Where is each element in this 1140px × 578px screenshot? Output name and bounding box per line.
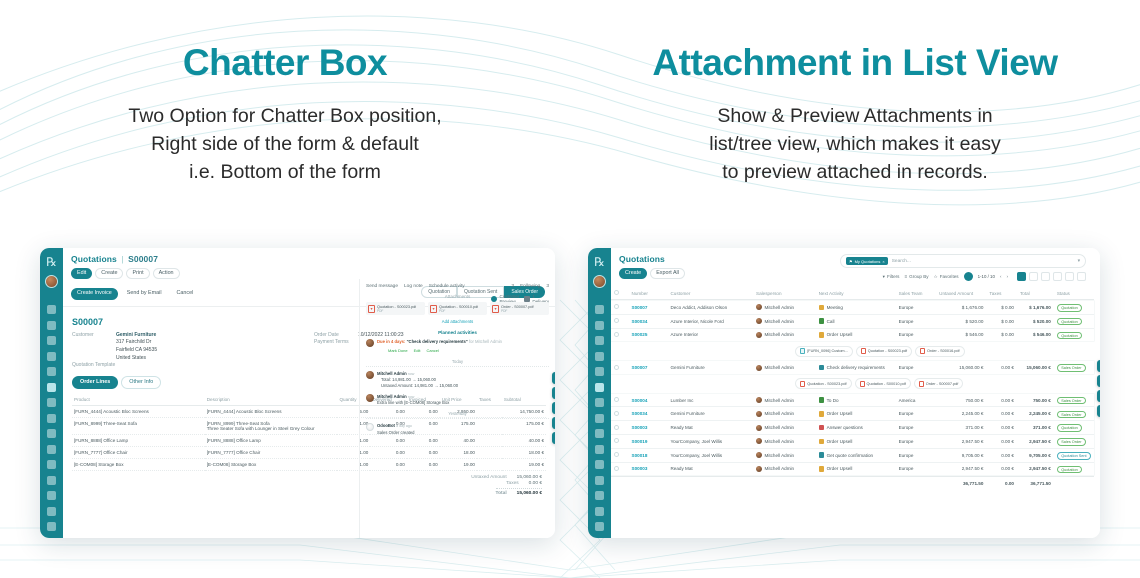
- sidebar-item-invoicing[interactable]: [47, 460, 56, 469]
- status-badge: Quotation: [1057, 424, 1082, 432]
- avatar: [756, 365, 762, 371]
- cell-select[interactable]: [611, 329, 629, 342]
- subtitle-line: Show & Preview Attachments in: [570, 102, 1140, 130]
- upsell-icon: [819, 411, 825, 417]
- edit-activity-button[interactable]: Edit: [414, 348, 421, 354]
- field-value: Fairfield CA 94535: [116, 347, 157, 353]
- cell-sales-team: Europe: [896, 463, 937, 476]
- subtitle-line: Right side of the form & default: [0, 130, 570, 158]
- sidebar-item-invoicing[interactable]: [595, 460, 604, 469]
- upsell-icon: [819, 332, 825, 338]
- status-badge: Quotation: [1057, 466, 1082, 474]
- cell-status: Quotation: [1054, 315, 1094, 328]
- subtitle-line: i.e. Bottom of the form: [0, 158, 570, 186]
- sidebar-item-manufacturing[interactable]: [595, 429, 604, 438]
- field-value: United States: [116, 355, 146, 361]
- avatar: [756, 438, 762, 444]
- sidebar-item-recruitment[interactable]: [595, 491, 604, 500]
- search-icon[interactable]: ⚲: [1097, 375, 1100, 387]
- cell-number: S00019: [629, 435, 668, 448]
- subtitle-line: Two Option for Chatter Box position,: [0, 102, 570, 130]
- page-title-right: Attachment in List View: [570, 44, 1140, 83]
- sidebar-item-website[interactable]: [47, 507, 56, 516]
- form-action-buttons: Edit Create Print Action: [71, 268, 547, 279]
- cell-customer: YourCompany, Joel Willis: [667, 449, 753, 462]
- sidebar-item-crm[interactable]: [47, 367, 56, 376]
- attachment-type: PDF: [439, 309, 478, 313]
- cell-taxes: 0.00 €: [986, 361, 1017, 374]
- print-button[interactable]: Print: [126, 268, 149, 279]
- sidebar-item-accounting[interactable]: [47, 445, 56, 454]
- cell-taxes: $ 0.00: [986, 301, 1017, 314]
- mark-done-button[interactable]: Mark Done: [388, 348, 408, 354]
- settings-icon[interactable]: ⚙: [552, 417, 555, 429]
- follower-count[interactable]: 3: [546, 284, 549, 289]
- message-time: now: [408, 395, 415, 399]
- upsell-icon: [819, 439, 825, 445]
- cell-next-activity: To Do: [816, 394, 896, 407]
- cell-untaxed: $ 546.00: [936, 329, 986, 342]
- message-item: Mitchell Admin now Total: 14,981.00 → 15…: [366, 371, 549, 390]
- cell-product: [FURN_8999] Three-Seat Sofa: [72, 417, 205, 434]
- message-time: a day ago: [396, 424, 412, 428]
- col-taxes[interactable]: Taxes: [986, 287, 1017, 300]
- cell-sales-team: Europe: [896, 329, 937, 342]
- cell-salesperson: Mitchell Admin: [753, 463, 816, 476]
- table-row[interactable]: S00034Azure Interior, Nicole FordMitchel…: [611, 315, 1094, 328]
- list-header-left: Quotations Create Export All: [619, 254, 840, 279]
- form-fields-left: Customer Gemini Furniture 317 Fairchild …: [72, 332, 304, 370]
- checkbox-icon[interactable]: [614, 332, 619, 337]
- pdf-icon: ▼: [492, 305, 499, 313]
- cell-next-activity: Meeting: [816, 301, 896, 314]
- activity-assignee: for Mitchell Admin: [469, 339, 502, 344]
- col-next-activity[interactable]: Next Activity: [816, 287, 896, 300]
- cell-select[interactable]: [611, 361, 629, 374]
- cell-next-activity: Order Upsell: [816, 329, 896, 342]
- sidebar-item-inventory[interactable]: [47, 414, 56, 423]
- cell-number: S00007: [629, 361, 668, 374]
- sidebar-item-calendar[interactable]: [47, 336, 56, 345]
- attachment-name: [FURN_0096] Custom...: [807, 349, 848, 353]
- status-badge: Sales Order: [1057, 438, 1086, 446]
- cell-salesperson: Mitchell Admin: [753, 407, 816, 420]
- col-product[interactable]: Product: [72, 394, 205, 406]
- cell-untaxed: 2,947.50 €: [936, 463, 986, 476]
- col-number[interactable]: Number: [629, 287, 668, 300]
- doc-icon[interactable]: ▦: [1097, 405, 1100, 417]
- cell-customer: Deco Addict, Addison Olson: [667, 301, 753, 314]
- page-title-left: Chatter Box: [0, 44, 570, 83]
- edit-button[interactable]: Edit: [71, 268, 92, 279]
- checkbox-icon[interactable]: [614, 365, 619, 370]
- checkbox-icon[interactable]: [614, 290, 619, 295]
- cell-salesperson: Mitchell Admin: [753, 394, 816, 407]
- sidebar-item-settings[interactable]: [595, 522, 604, 531]
- cell-untaxed: 9,705.00 €: [936, 449, 986, 462]
- create-button[interactable]: Create: [619, 268, 647, 279]
- col-description[interactable]: Description: [205, 394, 338, 406]
- floating-toolbar-left: ★ ⚲ ⛶ ⚙ ▦: [552, 372, 555, 444]
- cell-select[interactable]: [611, 421, 629, 434]
- search-icon[interactable]: ⚲: [552, 387, 555, 399]
- cell-status: Quotation: [1054, 329, 1094, 342]
- pdf-icon: ▼: [368, 305, 375, 313]
- attachments-heading: Attachments: [366, 294, 549, 299]
- cell-total: 750.00 €: [1017, 394, 1054, 407]
- sidebar-icon-list[interactable]: [595, 305, 604, 531]
- checkbox-icon[interactable]: [614, 411, 619, 416]
- group-by-button[interactable]: ≡Group By: [904, 274, 928, 279]
- cell-sales-team: Europe: [896, 301, 937, 314]
- sidebar-item-contacts[interactable]: [47, 352, 56, 361]
- pdf-icon: [860, 381, 865, 387]
- cancel-button[interactable]: Cancel: [171, 288, 200, 299]
- activity-view-icon[interactable]: [1077, 272, 1086, 281]
- message-author: OdooBot: [377, 423, 395, 428]
- message-body: OdooBot a day ago Sales Order created: [377, 423, 414, 436]
- odoo-logo-icon[interactable]: ℞: [43, 253, 60, 270]
- cell-customer: Azure Interior, Nicole Ford: [667, 315, 753, 328]
- cell-number: S00004: [629, 394, 668, 407]
- sidebar-icon-list[interactable]: [47, 305, 56, 531]
- list-action-buttons: Create Export All: [619, 268, 840, 279]
- col-untaxed-amount[interactable]: Untaxed Amount: [936, 287, 986, 300]
- cell-sales-team: Europe: [896, 407, 937, 420]
- app-sidebar-right[interactable]: ℞: [588, 248, 611, 538]
- cell-product: [FURN_8888] Office Lamp: [72, 434, 205, 446]
- footer-untaxed: 36,771.50: [936, 476, 986, 489]
- cell-taxes: 0.00 €: [986, 449, 1017, 462]
- attachment-chip[interactable]: Quotation - S00010.pdf: [855, 378, 911, 389]
- cell-next-activity: Check delivery requirements: [816, 361, 896, 374]
- heading-block-chatter-box: Chatter Box Two Option for Chatter Box p…: [0, 0, 570, 215]
- cell-select[interactable]: [611, 463, 629, 476]
- star-icon[interactable]: ★: [552, 372, 555, 384]
- attachment-chip[interactable]: Quotation - S00023.pdf: [856, 346, 912, 357]
- graph-view-icon[interactable]: [1065, 272, 1074, 281]
- list-view-icon[interactable]: [1017, 272, 1026, 281]
- cell-number: S00003: [629, 421, 668, 434]
- sidebar-item-pin[interactable]: [595, 321, 604, 330]
- filter-icon: ▾: [883, 274, 885, 280]
- message-item: OdooBot a day ago Sales Order created: [366, 423, 549, 436]
- attachment-name: Order - S00007.pdf: [926, 382, 959, 386]
- cell-status: Sales Order: [1054, 394, 1094, 407]
- sidebar-item-settings[interactable]: [47, 522, 56, 531]
- calendar-view-icon[interactable]: [1041, 272, 1050, 281]
- todo-icon: [819, 397, 825, 403]
- cell-customer: Ready Mat: [667, 463, 753, 476]
- table-row[interactable]: S00004Lumber IncMitchell AdminTo DoAmeri…: [611, 394, 1094, 407]
- field-address-line1: 317 Fairchild Dr: [72, 339, 304, 345]
- attachment-card[interactable]: ▼ Order - S00007.pdf PDF: [490, 302, 549, 315]
- cell-product: [FURN_7777] Office Chair: [72, 446, 205, 458]
- avatar: [756, 332, 762, 338]
- heading-block-attachment-list-view: Attachment in List View Show & Preview A…: [570, 0, 1140, 215]
- list-header: Quotations Create Export All ⚑ My Quotat…: [611, 248, 1094, 281]
- cell-salesperson: Mitchell Admin: [753, 315, 816, 328]
- planned-activities-heading: Planned activities: [366, 330, 549, 335]
- avatar[interactable]: [593, 275, 606, 288]
- group-icon: ≡: [904, 274, 907, 279]
- sidebar-item-recruitment[interactable]: [47, 491, 56, 500]
- cell-select[interactable]: [611, 449, 629, 462]
- cell-salesperson: Mitchell Admin: [753, 301, 816, 314]
- breadcrumb-separator: |: [119, 254, 125, 264]
- star-icon: ☆: [934, 274, 938, 280]
- sidebar-item-messages[interactable]: [47, 305, 56, 314]
- cell-total: 9,705.00 €: [1017, 449, 1054, 462]
- attachment-row: [FURN_0096] Custom...Quotation - S00023.…: [611, 342, 1094, 360]
- doc-icon[interactable]: ▦: [552, 432, 555, 444]
- cell-taxes: 0.00 €: [986, 394, 1017, 407]
- kanban-view-icon[interactable]: [1029, 272, 1038, 281]
- cell-sales-team: Europe: [896, 435, 937, 448]
- send-message-button[interactable]: Send message: [366, 284, 398, 289]
- cell-next-activity: Get quote confirmation: [816, 449, 896, 462]
- next-page-button[interactable]: ›: [1006, 274, 1008, 279]
- message-body: Mitchell Admin now Total: 14,981.00 → 15…: [377, 371, 458, 390]
- highlight-indicator: [964, 272, 973, 281]
- meeting-icon: [819, 305, 825, 311]
- cell-taxes: 0.00 €: [986, 407, 1017, 420]
- cell-next-activity: Order Upsell: [816, 407, 896, 420]
- headings-area: Chatter Box Two Option for Chatter Box p…: [0, 0, 1140, 215]
- avatar: [756, 466, 762, 472]
- sidebar-item-employees[interactable]: [47, 476, 56, 485]
- pdf-icon: ▼: [430, 305, 437, 313]
- status-badge: Sales Order: [1057, 411, 1086, 419]
- search-input[interactable]: ⚑ My Quotations × Search... ▾: [840, 254, 1086, 268]
- pdf-icon: [920, 348, 925, 354]
- day-separator-today: Today: [366, 359, 549, 367]
- checkbox-icon[interactable]: [614, 304, 619, 309]
- sidebar-item-purchase[interactable]: [595, 398, 604, 407]
- breadcrumb-root[interactable]: Quotations: [71, 254, 117, 264]
- breadcrumb[interactable]: Quotations | S00007: [71, 254, 547, 264]
- activity-buttons: Mark Done Edit Cancel: [377, 348, 502, 354]
- create-button[interactable]: Create: [95, 268, 123, 279]
- table-footer-row: 36,771.50 0.00 36,771.50: [611, 476, 1094, 489]
- table-row[interactable]: S00025Azure InteriorMitchell AdminOrder …: [611, 329, 1094, 342]
- cell-number: S00025: [629, 329, 668, 342]
- breadcrumb-root[interactable]: Quotations: [619, 254, 665, 264]
- attachment-chip[interactable]: Order - S00016.pdf: [915, 346, 965, 357]
- sidebar-item-accounting[interactable]: [595, 445, 604, 454]
- field-label: Order Date: [314, 332, 358, 338]
- cell-taxes: 0.00 €: [986, 435, 1017, 448]
- attachment-name: Quotation - S00010.pdf: [439, 305, 478, 309]
- expand-icon[interactable]: ⛶: [552, 402, 555, 414]
- table-row[interactable]: S00019YourCompany, Joel WillisMitchell A…: [611, 435, 1094, 448]
- cell-select[interactable]: [611, 315, 629, 328]
- message-text: Total: 14,981.00 → 15,060.00 Untaxed Amo…: [377, 377, 458, 390]
- cell-taxes: 0.00 €: [986, 421, 1017, 434]
- favorites-button[interactable]: ☆Favorites: [934, 274, 959, 280]
- col-customer[interactable]: Customer: [667, 287, 753, 300]
- table-row[interactable]: S00007Gemini FurnitureMitchell AdminChec…: [611, 361, 1094, 374]
- cell-product: [E-COM08] Storage Box: [72, 458, 205, 470]
- cell-description: [FURN_4444] Acoustic Bloc Screens: [205, 405, 338, 417]
- checkbox-icon[interactable]: [614, 438, 619, 443]
- cell-total: 2,947.50 €: [1017, 463, 1054, 476]
- cell-salesperson: Mitchell Admin: [753, 435, 816, 448]
- tab-order-lines[interactable]: Order Lines: [72, 376, 118, 389]
- sidebar-item-manufacturing[interactable]: [47, 429, 56, 438]
- quotations-table: Number Customer Salesperson Next Activit…: [611, 286, 1094, 490]
- attachment-card[interactable]: ▼ Quotation - S00023.pdf PDF: [366, 302, 425, 315]
- cell-status: Sales Order: [1054, 361, 1094, 374]
- attachment-name: Quotation - S00023.pdf: [868, 349, 907, 353]
- attachment-type: PDF: [377, 309, 416, 313]
- checkbox-icon[interactable]: [614, 425, 619, 430]
- cell-status: Sales Order: [1054, 407, 1094, 420]
- add-attachments-button[interactable]: Add attachments: [366, 319, 549, 324]
- table-row[interactable]: S00007Deco Addict, Addison OlsonMitchell…: [611, 301, 1094, 314]
- attachment-card[interactable]: ▼ Quotation - S00010.pdf PDF: [428, 302, 487, 315]
- cell-salesperson: Mitchell Admin: [753, 421, 816, 434]
- avatar: [366, 339, 374, 347]
- schedule-activity-button[interactable]: Schedule activity: [429, 284, 465, 289]
- cell-untaxed: $ 520.00: [936, 315, 986, 328]
- activity-summary: "Check delivery requirements": [407, 339, 468, 344]
- pivot-view-icon[interactable]: [1053, 272, 1062, 281]
- field-value: 317 Fairchild Dr: [116, 339, 151, 345]
- close-icon[interactable]: ×: [882, 259, 884, 264]
- attachment-name: Quotation - S00023.pdf: [807, 382, 846, 386]
- cell-description: [FURN_7777] Office Chair: [205, 446, 338, 458]
- control-panel: ▾Filters ≡Group By ☆Favorites 1-10 / 10 …: [840, 272, 1086, 281]
- cell-number: S00034: [629, 315, 668, 328]
- attachment-name: Quotation - S00010.pdf: [867, 382, 906, 386]
- field-address-line2: Fairfield CA 94535: [72, 347, 304, 353]
- sidebar-item-messages[interactable]: [595, 305, 604, 314]
- prev-page-button[interactable]: ‹: [1000, 274, 1002, 279]
- avatar[interactable]: [45, 275, 58, 288]
- table-row[interactable]: S00034Gemini FurnitureMitchell AdminOrde…: [611, 407, 1094, 420]
- group-by-label: Group By: [909, 274, 928, 279]
- image-icon: [800, 348, 805, 354]
- cancel-activity-button[interactable]: Cancel: [426, 348, 438, 354]
- cell-select[interactable]: [611, 394, 629, 407]
- cell-select[interactable]: [611, 301, 629, 314]
- sidebar-item-inventory[interactable]: [595, 414, 604, 423]
- status-badge: Sales Order: [1057, 364, 1086, 372]
- field-address-country: United States: [72, 355, 304, 361]
- create-invoice-button[interactable]: Create Invoice: [71, 288, 118, 299]
- settings-icon[interactable]: ⚙: [1097, 360, 1100, 372]
- export-all-button[interactable]: Export All: [650, 268, 685, 279]
- sidebar-item-employees[interactable]: [595, 476, 604, 485]
- sidebar-item-website[interactable]: [595, 507, 604, 516]
- sidebar-item-crm[interactable]: [595, 367, 604, 376]
- sidebar-item-contacts[interactable]: [595, 352, 604, 361]
- chevron-down-icon[interactable]: ▾: [1078, 259, 1080, 264]
- checkbox-icon[interactable]: [614, 466, 619, 471]
- cell-select[interactable]: [611, 407, 629, 420]
- sidebar-item-pin[interactable]: [47, 321, 56, 330]
- call-icon: [819, 318, 825, 324]
- attachment-count[interactable]: 3: [511, 284, 514, 289]
- avatar: [756, 397, 762, 403]
- cell-number: S00007: [629, 301, 668, 314]
- table-row[interactable]: S00003Ready MatMitchell AdminAnswer ques…: [611, 421, 1094, 434]
- sidebar-item-calendar[interactable]: [595, 336, 604, 345]
- breadcrumb[interactable]: Quotations: [619, 254, 840, 264]
- pdf-icon: [861, 348, 866, 354]
- cell-status: Quotation Sent: [1054, 449, 1094, 462]
- log-note-button[interactable]: Log note: [404, 284, 423, 289]
- send-by-email-button[interactable]: Send by Email: [121, 288, 168, 299]
- attachment-chip[interactable]: Quotation - S00023.pdf: [795, 378, 851, 389]
- col-select-all[interactable]: [611, 287, 629, 300]
- cell-sales-team: America: [896, 394, 937, 407]
- attachment-row: Quotation - S00023.pdfQuotation - S00010…: [611, 375, 1094, 393]
- search-facet[interactable]: ⚑ My Quotations ×: [846, 257, 888, 265]
- status-badge: Sales Order: [1057, 397, 1086, 405]
- chatter-panel: Send message Log note Schedule activity …: [359, 279, 555, 538]
- facet-label: My Quotations: [855, 259, 881, 264]
- attachment-chip-list: [FURN_0096] Custom...Quotation - S00023.…: [614, 346, 1091, 357]
- sidebar-item-purchase[interactable]: [47, 398, 56, 407]
- cell-description: [FURN_8888] Office Lamp: [205, 434, 338, 446]
- col-total[interactable]: Total: [1017, 287, 1054, 300]
- filters-button[interactable]: ▾Filters: [883, 274, 900, 280]
- col-salesperson[interactable]: Salesperson: [753, 287, 816, 300]
- cell-total: 2,947.50 €: [1017, 435, 1054, 448]
- table-row[interactable]: S00003Ready MatMitchell AdminOrder Upsel…: [611, 463, 1094, 476]
- tab-other-info[interactable]: Other Info: [121, 376, 161, 389]
- field-value[interactable]: Gemini Furniture: [116, 332, 156, 338]
- app-sidebar-left[interactable]: ℞: [40, 248, 63, 538]
- sidebar-item-sales[interactable]: [595, 383, 604, 392]
- chatter-toolbar: Send message Log note Schedule activity …: [366, 284, 549, 289]
- screenshot-quotation-form: ℞ Quotations | S00007: [40, 248, 555, 538]
- sidebar-item-sales[interactable]: [47, 383, 56, 392]
- status-badge: Quotation: [1057, 332, 1082, 340]
- activity-body: Due in 4 days: "Check delivery requireme…: [377, 339, 502, 354]
- status-badge: Quotation: [1057, 304, 1082, 312]
- following-button[interactable]: Following: [520, 284, 540, 289]
- cell-sales-team: Europe: [896, 361, 937, 374]
- attachment-chip[interactable]: Order - S00007.pdf: [914, 378, 964, 389]
- workflow-buttons: Create Invoice Send by Email Cancel: [71, 288, 199, 299]
- list-view-body: Quotations Create Export All ⚑ My Quotat…: [611, 248, 1100, 538]
- cell-product: [FURN_4444] Acoustic Bloc Screens: [72, 405, 205, 417]
- cell-sales-team: Europe: [896, 421, 937, 434]
- message-text: Extra line with [E-COM08] Storage Box: [377, 400, 449, 406]
- page-subtitle-right: Show & Preview Attachments in list/tree …: [570, 102, 1140, 187]
- cell-untaxed: 371.00 €: [936, 421, 986, 434]
- checkbox-icon[interactable]: [614, 318, 619, 323]
- table-row[interactable]: S00018YourCompany, Joel WillisMitchell A…: [611, 449, 1094, 462]
- checkbox-icon[interactable]: [614, 452, 619, 457]
- col-sales-team[interactable]: Sales Team: [896, 287, 937, 300]
- expand-icon[interactable]: ⛶: [1097, 390, 1100, 402]
- col-status[interactable]: Status: [1054, 287, 1094, 300]
- action-button[interactable]: Action: [153, 268, 180, 279]
- checkbox-icon[interactable]: [614, 397, 619, 402]
- cell-select[interactable]: [611, 435, 629, 448]
- attachment-chip[interactable]: [FURN_0096] Custom...: [795, 346, 853, 357]
- quotations-table-body: S00007Deco Addict, Addison OlsonMitchell…: [611, 301, 1094, 475]
- cell-total: 15,060.00 €: [1017, 361, 1054, 374]
- cell-number: S00018: [629, 449, 668, 462]
- page-subtitle-left: Two Option for Chatter Box position, Rig…: [0, 102, 570, 187]
- odoo-logo-icon[interactable]: ℞: [591, 253, 608, 270]
- filters-label: Filters: [887, 274, 900, 279]
